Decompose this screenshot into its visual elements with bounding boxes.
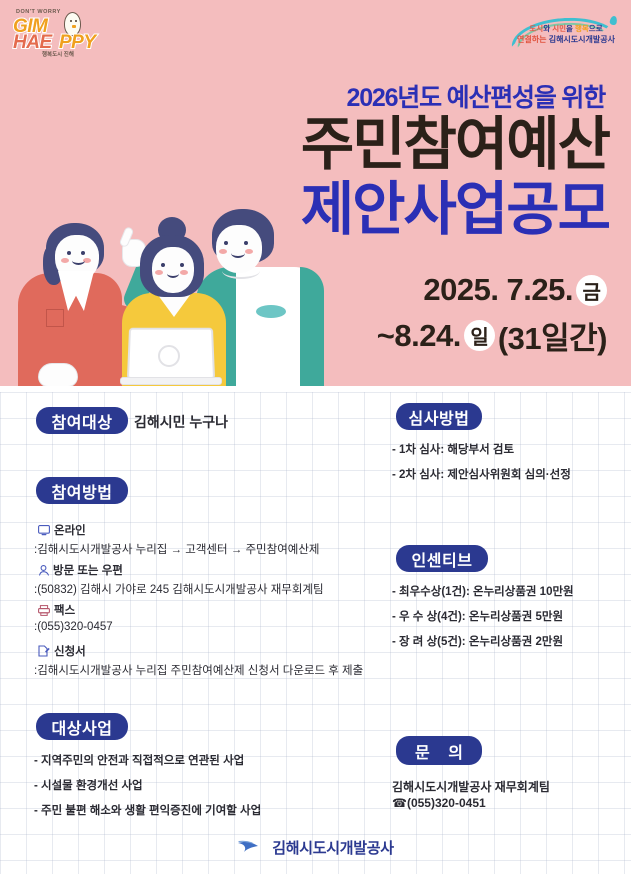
logo-text-yeongyeol: 연결하는: [517, 35, 549, 44]
date-end-day-chip: 일: [464, 320, 495, 351]
date-line-1: 2025. 7.25. 금: [423, 272, 607, 308]
date-start-day-chip: 금: [576, 275, 607, 306]
badge-inquiry: 문 의: [396, 736, 482, 765]
poster-canvas: DON'T WORRY GIM HAE PPY 행복도시 진해 도시와 시민을 …: [0, 0, 631, 874]
method-item-online-detail: :김해시도시개발공사 누리집 → 고객센터 → 주민참여예산제: [34, 541, 320, 557]
fax-icon: [38, 605, 50, 619]
logo-text-euro: 으로: [589, 24, 603, 33]
target-project-item: - 시설물 환경개선 사업: [34, 777, 261, 793]
person-red-cheeks: [61, 258, 69, 263]
swoosh-icon: [237, 839, 265, 856]
badge-incentive: 인센티브: [396, 545, 488, 572]
date-duration: (31일간): [498, 313, 607, 358]
three-people-with-laptop-illustration: [0, 205, 320, 392]
method-item-fax-detail: :(055)320-0457: [34, 621, 113, 633]
inquiry-phone[interactable]: ☎(055)320-0451: [392, 796, 486, 810]
headline-title-sub: 공모: [506, 177, 609, 242]
badge-method: 참여방법: [36, 477, 128, 504]
method-item-visit-detail: :(50832) 김해시 가야로 245 김해시도시개발공사 재무회계팀: [34, 581, 324, 597]
target-projects-list: - 지역주민의 안전과 직접적으로 연관된 사업 - 시설물 환경개선 사업 -…: [34, 752, 261, 827]
person-red-eyes: [67, 251, 71, 255]
footer-logo: 김해시도시개발공사: [0, 837, 631, 858]
corporate-logo-line1: 도시와 시민을 행복으로: [509, 23, 623, 34]
badge-review-method: 심사방법: [396, 403, 482, 430]
laptop-logo-circle: [158, 345, 180, 367]
person-teal-chest-logo: [256, 305, 286, 318]
person-teal-sleeve-right: [300, 267, 324, 392]
method-item-form-label: 신청서: [38, 643, 86, 660]
monitor-icon: [38, 525, 50, 539]
person-teal-smile: [231, 248, 245, 258]
method-item-visit-label: 방문 또는 우편: [38, 562, 123, 579]
headline-title-line1: 주민참여예산: [301, 116, 609, 174]
laptop-base: [120, 377, 222, 385]
review-method-list: - 1차 심사: 해당부서 검토 - 2차 심사: 제안심사위원회 심의·선정: [392, 441, 571, 491]
person-teal-eyes: [224, 241, 228, 245]
headline-kicker: 2026년도 예산편성을 위한: [346, 78, 605, 114]
method-online-text: 온라인: [54, 525, 86, 537]
incentive-item: - 최우수상(1건): 온누리상품권 10만원: [392, 583, 574, 599]
person-red-pocket: [46, 309, 64, 327]
logo-text-simin: 시민: [552, 24, 566, 33]
logo-text-eul: 을: [566, 24, 575, 33]
gimhaeppy-logo: DON'T WORRY GIM HAE PPY 행복도시 진해: [10, 8, 106, 60]
method-visit-text: 방문 또는 우편: [53, 565, 123, 577]
method-form-text: 신청서: [54, 646, 86, 658]
target-project-item: - 주민 불편 해소와 생활 편익증진에 기여할 사업: [34, 802, 261, 818]
review-method-item: - 1차 심사: 해당부서 검토: [392, 441, 571, 457]
incentive-list: - 최우수상(1건): 온누리상품권 10만원 - 우 수 상(4건): 온누리…: [392, 583, 574, 658]
person-yellow-smile: [167, 269, 179, 278]
headline-title-line2: 제안사업공모: [301, 181, 609, 239]
corporate-logo: 도시와 시민을 행복으로 연결하는 김해시도시개발공사: [509, 14, 623, 52]
footer-company-name: 김해시도시개발공사: [272, 837, 394, 858]
method-item-form-detail: :김해시도시개발공사 누리집 주민참여예산제 신청서 다운로드 후 제출: [34, 662, 363, 678]
logo-text-wa: 와: [543, 24, 552, 33]
logo-tagline: DON'T WORRY: [16, 9, 61, 15]
incentive-item: - 장 려 상(5건): 온누리상품권 2만원: [392, 633, 574, 649]
badge-participants: 참여대상: [36, 407, 128, 434]
person-red-smile: [72, 256, 85, 265]
review-method-item: - 2차 심사: 제안심사위원회 심의·선정: [392, 466, 571, 482]
logo-text-company: 김해시도시개발공사: [549, 35, 615, 44]
participants-value: 김해시민 누구나: [134, 412, 228, 432]
headline-title-main: 제안사업: [301, 177, 506, 242]
person-red-hands: [38, 363, 78, 387]
date-line-2: ~8.24. 일 (31일간): [377, 313, 607, 358]
corporate-logo-line2: 연결하는 김해시도시개발공사: [509, 34, 623, 45]
badge-target-projects: 대상사업: [36, 713, 128, 740]
logo-text-dosi: 도시: [529, 24, 543, 33]
method-item-fax-label: 팩스: [38, 602, 75, 619]
inquiry-team: 김해시도시개발공사 재무회계팀: [392, 778, 550, 795]
logo-subtitle: 행복도시 진해: [42, 50, 74, 58]
target-project-item: - 지역주민의 안전과 직접적으로 연관된 사업: [34, 752, 261, 768]
method-item-online-label: 온라인: [38, 522, 86, 539]
logo-text-haengbok: 행복: [575, 24, 589, 33]
person-yellow-eyes: [161, 263, 165, 267]
method-fax-text: 팩스: [54, 605, 75, 617]
hero-panel: DON'T WORRY GIM HAE PPY 행복도시 진해 도시와 시민을 …: [0, 0, 631, 392]
incentive-item: - 우 수 상(4건): 온누리상품권 5만원: [392, 608, 574, 624]
person-teal-cheeks: [219, 249, 227, 254]
date-start: 2025. 7.25.: [423, 272, 573, 308]
person-yellow-cheeks: [155, 270, 163, 275]
date-end: ~8.24.: [377, 318, 461, 354]
location-pin-icon: [38, 564, 49, 579]
document-edit-icon: [38, 645, 50, 660]
